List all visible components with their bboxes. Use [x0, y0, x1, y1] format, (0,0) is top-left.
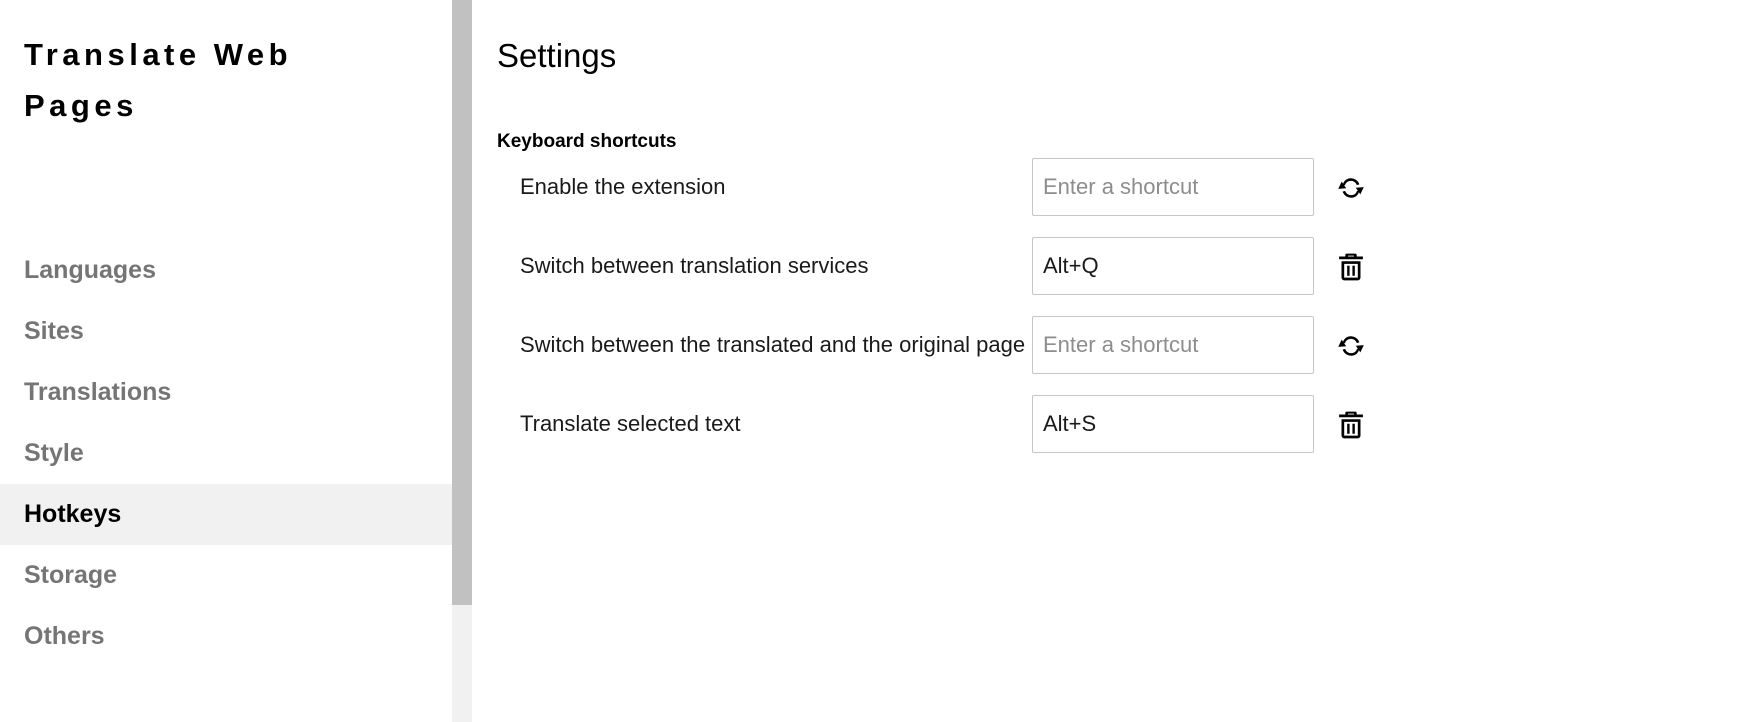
- section-title-keyboard-shortcuts: Keyboard shortcuts: [497, 129, 676, 155]
- sidebar-item-languages[interactable]: Languages: [0, 240, 452, 301]
- shortcut-list: Enable the extensionSwitch between trans…: [472, 158, 1737, 474]
- page-title: Settings: [497, 35, 616, 77]
- shortcut-label: Switch between translation services: [520, 251, 869, 281]
- sidebar-item-label: Storage: [24, 561, 117, 589]
- sidebar-item-storage[interactable]: Storage: [0, 545, 452, 606]
- sidebar-item-sites[interactable]: Sites: [0, 301, 452, 362]
- clear-shortcut-button[interactable]: [1330, 404, 1372, 446]
- sidebar-item-translations[interactable]: Translations: [0, 362, 452, 423]
- shortcut-row: Switch between the translated and the or…: [472, 316, 1737, 395]
- sidebar-item-style[interactable]: Style: [0, 423, 452, 484]
- app-title: Translate Web Pages: [24, 29, 404, 131]
- settings-content: Settings Keyboard shortcuts Enable the e…: [472, 0, 1737, 722]
- shortcut-input[interactable]: [1032, 316, 1314, 374]
- shortcut-row: Enable the extension: [472, 158, 1737, 237]
- sidebar-nav: LanguagesSitesTranslationsStyleHotkeysSt…: [0, 240, 452, 667]
- shortcut-label: Switch between the translated and the or…: [520, 330, 1025, 360]
- options-page: Translate Web Pages LanguagesSitesTransl…: [0, 0, 1737, 722]
- shortcut-label: Enable the extension: [520, 172, 726, 202]
- shortcut-label: Translate selected text: [520, 409, 741, 439]
- shortcut-row: Switch between translation services: [472, 237, 1737, 316]
- trash-icon: [1334, 408, 1368, 442]
- shortcut-input[interactable]: [1032, 158, 1314, 216]
- trash-icon: [1334, 250, 1368, 284]
- sidebar-item-label: Hotkeys: [24, 500, 121, 528]
- shortcut-input[interactable]: [1032, 237, 1314, 295]
- reset-icon: [1334, 171, 1368, 205]
- shortcut-row: Translate selected text: [472, 395, 1737, 474]
- sidebar-item-label: Translations: [24, 378, 171, 406]
- sidebar-item-label: Others: [24, 622, 105, 650]
- shortcut-input[interactable]: [1032, 395, 1314, 453]
- sidebar-item-label: Sites: [24, 317, 84, 345]
- sidebar: Translate Web Pages LanguagesSitesTransl…: [0, 0, 452, 722]
- sidebar-item-label: Languages: [24, 256, 156, 284]
- reset-shortcut-button[interactable]: [1330, 325, 1372, 367]
- sidebar-scrollbar-thumb[interactable]: [452, 0, 472, 605]
- sidebar-item-label: Style: [24, 439, 84, 467]
- sidebar-scrollbar[interactable]: [452, 0, 472, 722]
- clear-shortcut-button[interactable]: [1330, 246, 1372, 288]
- reset-icon: [1334, 329, 1368, 363]
- sidebar-item-others[interactable]: Others: [0, 606, 452, 667]
- sidebar-item-hotkeys[interactable]: Hotkeys: [0, 484, 452, 545]
- reset-shortcut-button[interactable]: [1330, 167, 1372, 209]
